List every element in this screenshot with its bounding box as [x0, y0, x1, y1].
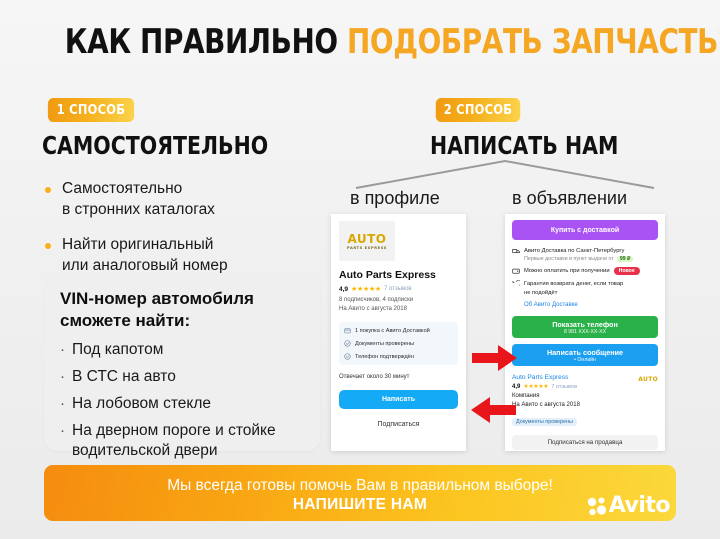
bullet-line: Самостоятельно [62, 180, 182, 197]
seller-info-block: AUTO Auto Parts Express 4,9 ★★★★★ 7 отзы… [512, 374, 658, 450]
check-circle-icon [344, 353, 351, 360]
seller-doc-badge: Документы проверены [512, 418, 577, 426]
shop-name: Auto Parts Express [339, 269, 458, 281]
online-status: • Онлайн [574, 357, 596, 363]
trust-badge: Телефон подтверждён [344, 353, 453, 360]
seller-since: На Авито с августа 2018 [512, 401, 658, 410]
trust-badge-list: 1 покупка с Авито Доставкой Документы пр… [339, 322, 458, 365]
bullet-text: Самостоятельно в стронних каталогах [62, 178, 215, 220]
bottom-cta-banner: Мы всегда готовы помочь Вам в правильном… [44, 465, 676, 521]
delivery-city-text: Авито Доставка по Санкт-Петербургу [524, 247, 633, 256]
bullet-line: или аналоговый номер [62, 257, 228, 274]
reviews-link[interactable]: 7 отзывов [384, 286, 412, 292]
bullet-dot-icon [45, 243, 51, 249]
bullet-dash-icon: · [60, 421, 65, 441]
step-1-badge: 1 СПОСОБ [48, 98, 134, 122]
vin-list-item: · На дверном пороге и стойке водительско… [60, 421, 304, 461]
delivery-box-icon [344, 327, 351, 334]
trust-badge-label: 1 покупка с Авито Доставкой [355, 328, 430, 334]
banner-text: Мы всегда готовы помочь Вам в правильном… [44, 476, 676, 514]
vin-item-text: На дверном пороге и стойке водительской … [72, 421, 276, 461]
pay-on-delivery-text: Можно оплатить при получении [524, 267, 610, 276]
listing-screenshot-card: Купить с доставкой Авито Доставка по Сан… [505, 214, 665, 451]
seller-type: Компания [512, 392, 658, 401]
bullet-text: Найти оригинальный или аналоговый номер [62, 234, 228, 276]
follow-seller-button[interactable]: Подписаться на продавца [512, 435, 658, 450]
bullet-dash-icon: · [60, 367, 65, 387]
arrow-to-message-button-icon [472, 344, 518, 372]
response-time: Отвечает около 30 минут [339, 374, 458, 380]
vin-item-line: На дверном пороге и стойке [72, 422, 276, 439]
bullet-item: Найти оригинальный или аналоговый номер [42, 234, 322, 276]
followers-count: 8 подписчиков, 4 подписки [339, 296, 458, 305]
page-title-yellow: ПОДОБРАТЬ ЗАПЧАСТЬ? [347, 22, 720, 62]
bullet-dash-icon: · [60, 340, 65, 360]
vin-list-item: · Под капотом [60, 340, 304, 360]
refund-text-line-1: Гарантия возврата денег, если товар [524, 280, 623, 289]
show-phone-label: Показать телефон [552, 320, 618, 329]
check-circle-icon [344, 340, 351, 347]
step-2-heading: НАПИСАТЬ НАМ [430, 131, 618, 160]
trust-badge: 1 покупка с Авито Доставкой [344, 327, 453, 334]
delivery-info-row: Гарантия возврата денег, если товар не п… [512, 280, 658, 297]
page-title-black: КАК ПРАВИЛЬНО [65, 22, 347, 62]
shop-logo-sub: PARTS EXPRESS [347, 246, 387, 250]
vin-list-item: · В СТС на авто [60, 367, 304, 387]
seller-rating-row: 4,9 ★★★★★ 7 отзывов [512, 383, 658, 390]
write-button[interactable]: Написать [339, 390, 458, 409]
vin-item-line: водительской двери [72, 442, 218, 459]
page-title: КАК ПРАВИЛЬНО ПОДОБРАТЬ ЗАПЧАСТЬ? [65, 22, 655, 62]
delivery-info-row: Можно оплатить при получении Новое [512, 267, 658, 276]
seller-reviews-link[interactable]: 7 отзывов [551, 384, 577, 390]
shop-rating-row: 4,9 ★★★★★ 7 отзывов [339, 285, 458, 293]
shop-logo-main: AUTO [347, 233, 387, 245]
delivery-info-row: Авито Доставка по Санкт-Петербургу Первы… [512, 247, 658, 262]
member-since: На Авито с августа 2018 [339, 305, 458, 314]
refund-text-line-2: не подойдёт [524, 289, 623, 298]
bullet-dash-icon: · [60, 394, 65, 414]
stars-icon: ★★★★★ [351, 285, 381, 293]
seller-name-link[interactable]: Auto Parts Express [512, 374, 658, 381]
bullet-dot-icon [45, 187, 51, 193]
bullet-line: Найти оригинальный [62, 236, 213, 253]
shop-logo: AUTO PARTS EXPRESS [339, 221, 395, 261]
wallet-icon [512, 267, 520, 275]
vin-item-text: В СТС на авто [72, 367, 176, 387]
return-icon [512, 280, 520, 288]
profile-screenshot-card: AUTO PARTS EXPRESS Auto Parts Express 4,… [331, 214, 466, 451]
vin-list-item: · На лобовом стекле [60, 394, 304, 414]
seller-mini-logo: AUTO [638, 376, 658, 383]
arrow-to-write-button-icon [470, 396, 516, 424]
new-badge: Новое [614, 267, 640, 275]
avito-logo: Avito [587, 495, 670, 517]
send-message-label: Написать сообщение [547, 348, 623, 357]
avito-wordmark: Avito [609, 495, 670, 517]
seller-rating-value: 4,9 [512, 384, 520, 390]
vin-card-heading: VIN-номер автомобиля сможете найти: [60, 288, 304, 332]
vin-heading-line-2: сможете найти: [60, 311, 190, 330]
vin-item-text: На лобовом стекле [72, 394, 211, 414]
subhead-in-profile: в профиле [350, 188, 440, 209]
banner-line-1: Мы всегда готовы помочь Вам в правильном… [44, 476, 676, 495]
vin-info-card: VIN-номер автомобиля сможете найти: · По… [44, 273, 320, 451]
banner-line-2: НАПИШИТЕ НАМ [44, 495, 676, 514]
phone-number-masked: 8 981 XXX-XX-XX [564, 329, 606, 335]
trust-badge-label: Документы проверены [355, 341, 414, 347]
step-2-badge: 2 СПОСОБ [436, 98, 520, 122]
bullet-item: Самостоятельно в стронних каталогах [42, 178, 322, 220]
step-1-heading: САМОСТОЯТЕЛЬНО [42, 131, 268, 160]
vin-item-text: Под капотом [72, 340, 163, 360]
stars-icon: ★★★★★ [523, 383, 548, 390]
vin-heading-line-1: VIN-номер автомобиля [60, 289, 254, 308]
show-phone-button[interactable]: Показать телефон 8 981 XXX-XX-XX [512, 316, 658, 338]
delivery-price-text: Первые доставки в пункт выдачи от [524, 256, 614, 262]
connector-lines [350, 158, 660, 192]
subscribe-button[interactable]: Подписаться [339, 416, 458, 432]
trust-badge: Документы проверены [344, 340, 453, 347]
poster-canvas: КАК ПРАВИЛЬНО ПОДОБРАТЬ ЗАПЧАСТЬ? 1 СПОС… [0, 0, 720, 539]
delivery-price-row: Первые доставки в пункт выдачи от 99 ₽ [524, 256, 633, 262]
truck-icon [512, 247, 520, 255]
trust-badge-label: Телефон подтверждён [355, 354, 414, 360]
subhead-in-listing: в объявлении [512, 188, 627, 209]
send-message-button[interactable]: Написать сообщение • Онлайн [512, 344, 658, 366]
buy-with-delivery-button[interactable]: Купить с доставкой [512, 220, 658, 240]
avito-dots-icon [587, 495, 607, 517]
about-delivery-link[interactable]: Об Авито Доставке [524, 302, 658, 308]
bullet-line: в стронних каталогах [62, 201, 215, 218]
rating-value: 4,9 [339, 286, 348, 293]
delivery-price-pill: 99 ₽ [617, 256, 634, 262]
